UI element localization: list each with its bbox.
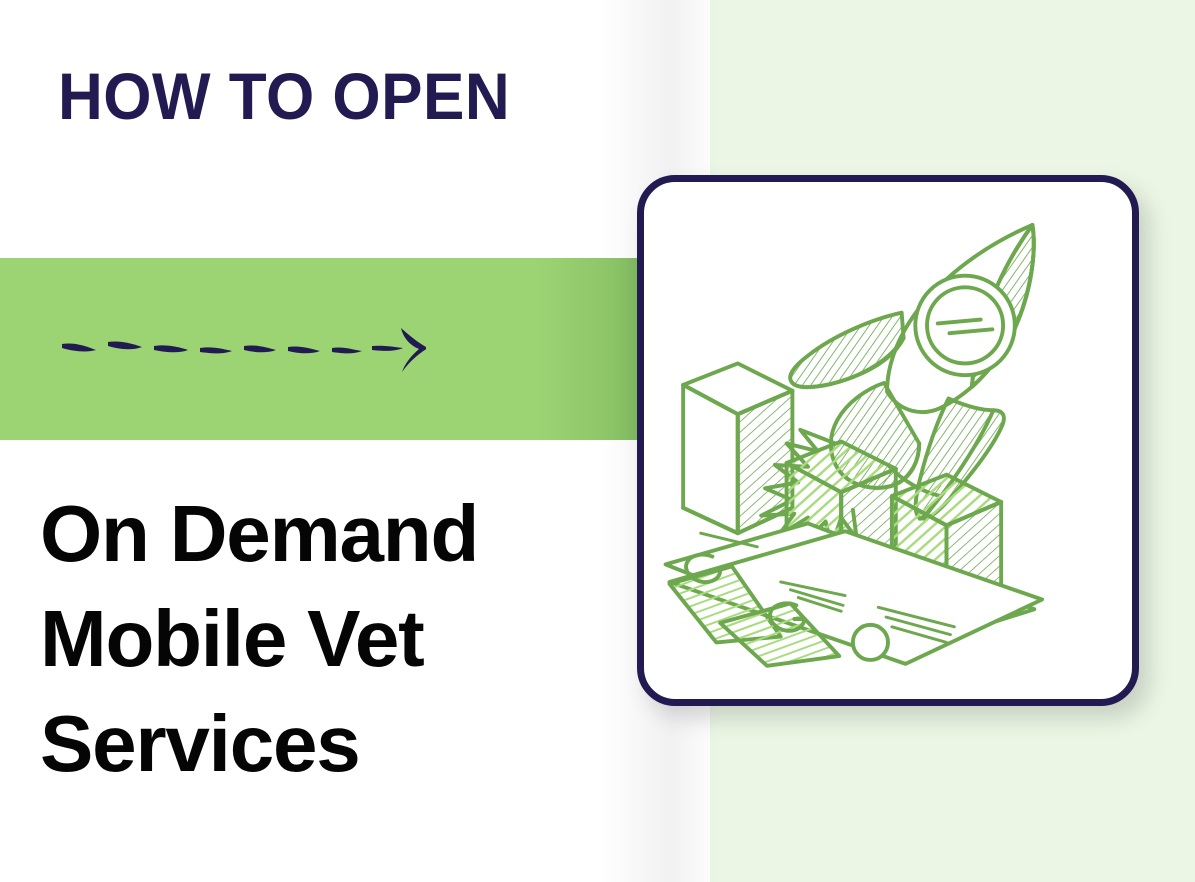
headline-line-2: Mobile Vet [40,587,620,692]
illustration-card [637,175,1139,706]
rocket-porthole-inner [927,287,1003,363]
page-headline: On Demand Mobile Vet Services [40,482,620,796]
poster-canvas: HOW TO OPEN On Demand Mobile Vet Service… [0,0,1195,882]
dashed-arrow-graphic [56,320,426,380]
page-kicker-title: HOW TO OPEN [58,62,510,131]
arrowhead [401,328,426,372]
headline-line-1: On Demand [40,482,620,587]
headline-line-3: Services [40,692,620,797]
bar-chart-block-tall [683,363,792,533]
banknote-seal-3 [853,625,888,660]
arrow-dashes [62,341,403,353]
